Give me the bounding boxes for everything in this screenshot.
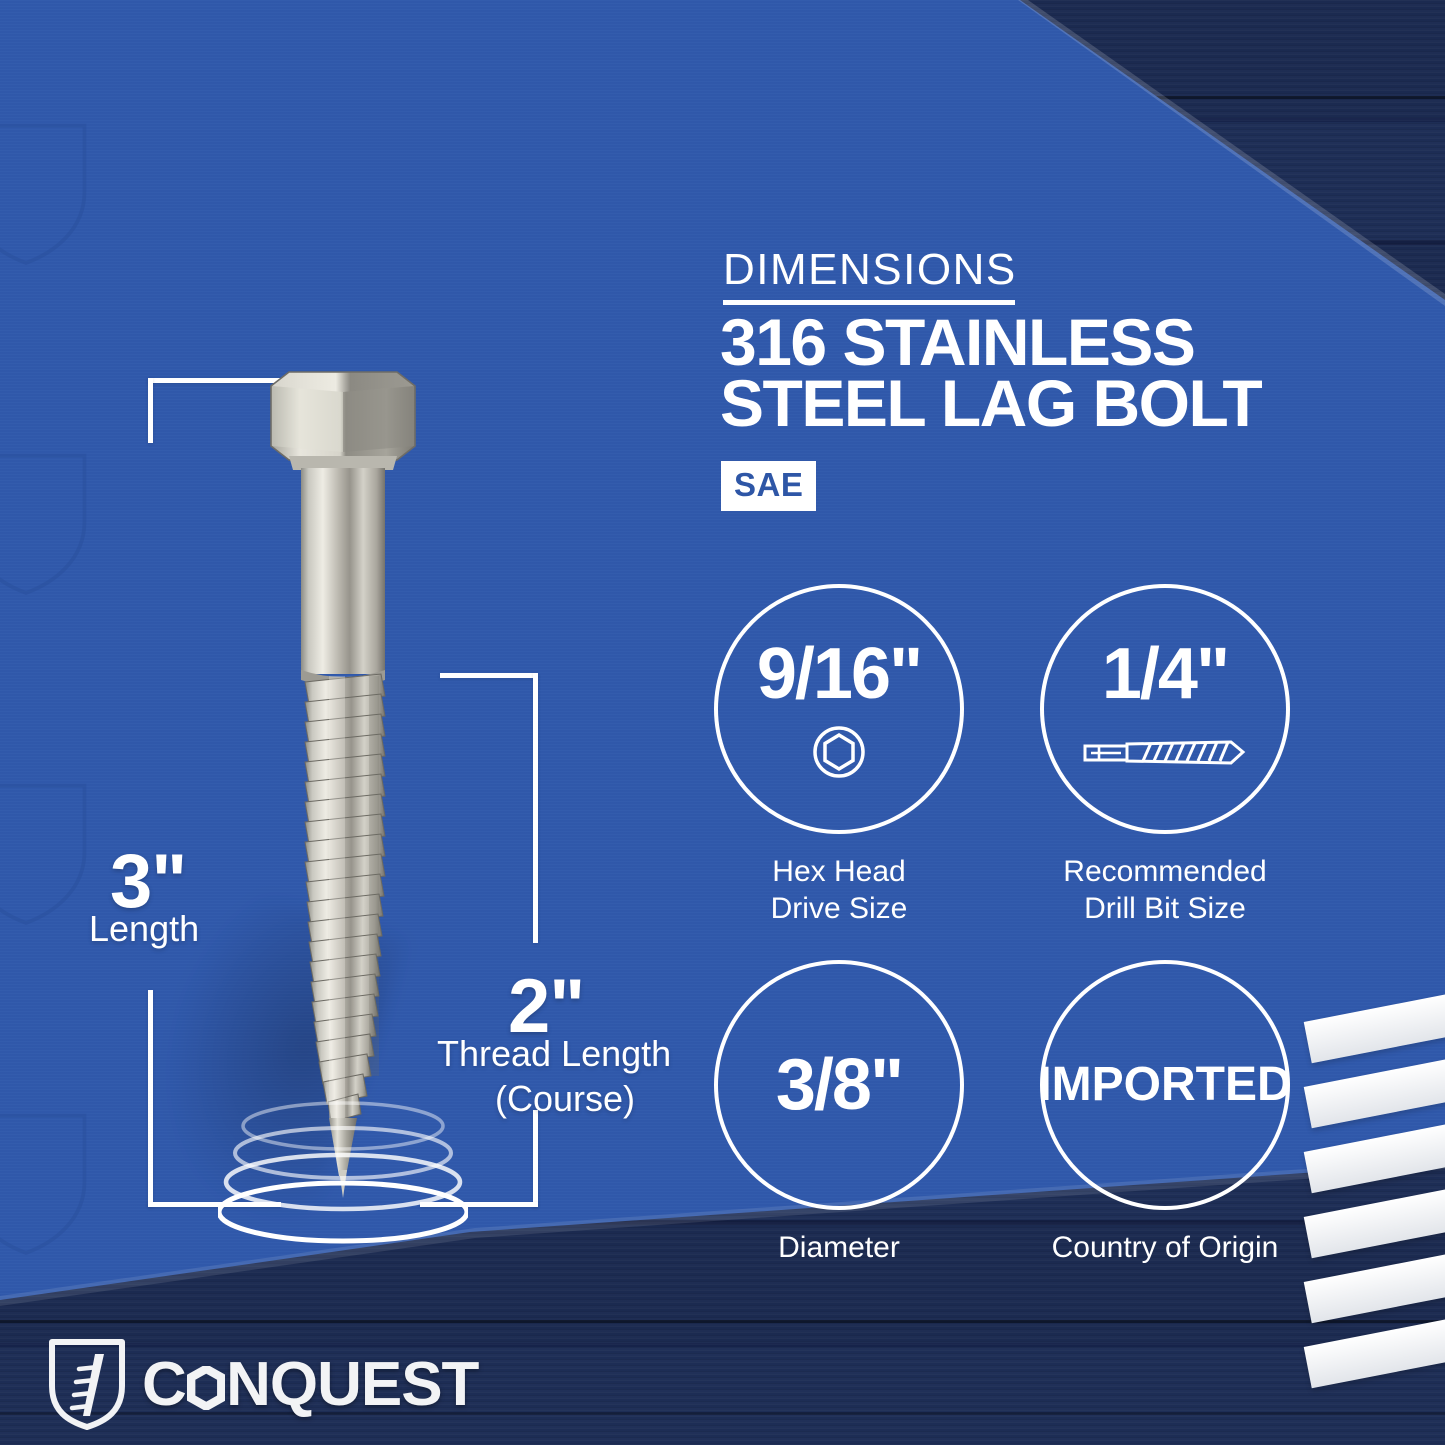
length-bracket-top-tick [148, 378, 153, 443]
shield-watermark [0, 448, 90, 598]
badge-value: 9/16" [757, 638, 921, 710]
hex-socket-icon [811, 724, 867, 780]
stripe [1304, 993, 1445, 1063]
badge-circle: 1/4" [1040, 584, 1290, 834]
badge-circle: 3/8" [714, 960, 964, 1210]
title-line-2: STEEL LAG BOLT [720, 373, 1360, 434]
badge-diameter: 3/8" Diameter [714, 960, 964, 1267]
shield-watermark [0, 118, 90, 268]
decorative-stripes [1315, 985, 1445, 1405]
page-title: 316 STAINLESS STEEL LAG BOLT [720, 312, 1360, 433]
badge-value: IMPORTED [1038, 1061, 1291, 1109]
standard-badge: SAE [721, 461, 816, 511]
badge-caption: Country of Origin [1040, 1230, 1290, 1267]
brand-logo: CNQUEST [48, 1338, 478, 1430]
stripe [1304, 1253, 1445, 1323]
badge-caption-line1: Diameter [714, 1230, 964, 1267]
thread-label-line2: (Course) [495, 1078, 635, 1120]
hex-o-icon [187, 1366, 225, 1409]
brand-wordmark: CNQUEST [142, 1349, 478, 1420]
shield-watermark [0, 778, 90, 928]
brand-letters-rest: NQUEST [226, 1350, 478, 1419]
badge-caption-line1: Hex Head [714, 854, 964, 891]
shield-watermark [0, 1108, 90, 1258]
thread-bracket-top [440, 673, 538, 678]
badge-caption-line1: Recommended [1040, 854, 1290, 891]
title-line-1: 316 STAINLESS [720, 312, 1360, 373]
stripe [1304, 1188, 1445, 1258]
badge-value: 3/8" [776, 1049, 902, 1121]
badge-caption-line2: Drive Size [714, 891, 964, 928]
badge-circle: IMPORTED [1040, 960, 1290, 1210]
stripe [1304, 1058, 1445, 1128]
brand-letter-c: C [142, 1350, 186, 1419]
badge-hex-head-drive-size: 9/16" Hex Head Drive Size [714, 584, 964, 927]
badge-caption-line2: Drill Bit Size [1040, 891, 1290, 928]
stripe [1304, 1123, 1445, 1193]
wood-plank-seam [0, 1320, 1445, 1323]
lag-bolt-image [243, 370, 443, 1205]
badge-caption: Hex Head Drive Size [714, 854, 964, 927]
badge-recommended-drill-bit-size: 1/4" [1040, 584, 1290, 927]
rotation-rings [218, 1098, 468, 1248]
badge-caption: Recommended Drill Bit Size [1040, 854, 1290, 927]
thread-bracket-right-lower [533, 1110, 538, 1207]
badge-caption: Diameter [714, 1230, 964, 1267]
shield-bolt-logo-icon [48, 1338, 126, 1430]
badge-value: 1/4" [1102, 638, 1228, 710]
length-label: Length [89, 908, 199, 950]
drill-bit-icon [1081, 724, 1249, 780]
length-bracket-left [148, 990, 153, 1207]
stripe [1304, 1318, 1445, 1388]
thread-bracket-right-upper [533, 673, 538, 943]
badge-circle: 9/16" [714, 584, 964, 834]
eyebrow-label: DIMENSIONS [723, 245, 1017, 295]
badge-caption-line1: Country of Origin [1040, 1230, 1290, 1267]
badge-country-of-origin: IMPORTED Country of Origin [1040, 960, 1290, 1267]
infographic-canvas: 3" Length 2" Thread Length (Course) [0, 0, 1445, 1445]
thread-label-line1: Thread Length [437, 1033, 671, 1075]
